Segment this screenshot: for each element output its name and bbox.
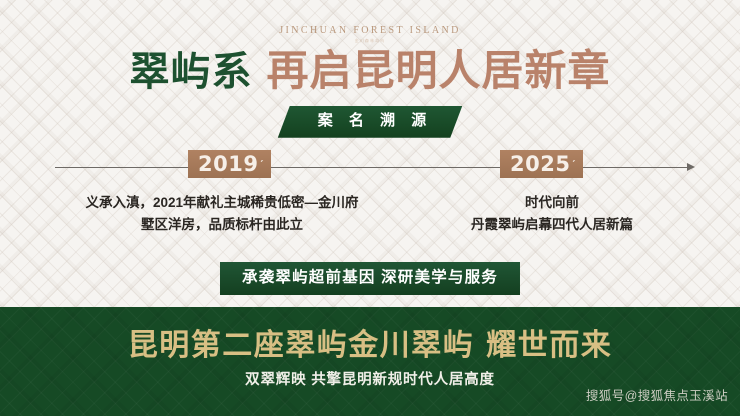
timeline-year-2019: 2019: [198, 152, 258, 176]
section-banner: 案 名 溯 源: [278, 106, 463, 138]
timeline-description-2019: 义承入滇，2021年献礼主城稀贵低密—金川府 墅区洋房，品质标杆由此立: [62, 192, 382, 236]
timeline-description-2019-line-1: 义承入滇，2021年献礼主城稀贵低密—金川府: [62, 192, 382, 214]
timeline-year-tick-2025: ′: [572, 158, 575, 171]
timeline-description-2025-line-1: 时代向前: [437, 192, 667, 214]
page-title: 翠屿系再启昆明人居新章: [0, 50, 740, 92]
timeline-description-2025-line-2: 丹霞翠屿启幕四代人居新篇: [437, 214, 667, 236]
timeline-description-2025: 时代向前 丹霞翠屿启幕四代人居新篇: [437, 192, 667, 236]
page-title-series: 翠屿系: [129, 49, 252, 95]
brand-logo-text: JINCHUAN FOREST ISLAND: [0, 26, 740, 36]
watermark: 搜狐号@搜狐焦点玉溪站: [586, 385, 728, 404]
page-title-main: 再启昆明人居新章: [266, 46, 610, 95]
brand-logo-subtext: 金川森林岛屿: [0, 39, 740, 43]
timeline-axis: [55, 167, 691, 168]
brand-logo: JINCHUAN FOREST ISLAND 金川森林岛屿: [0, 26, 740, 43]
poster-root: JINCHUAN FOREST ISLAND 金川森林岛屿 翠屿系再启昆明人居新…: [0, 0, 740, 416]
timeline-year-tick-2019: ′: [260, 158, 263, 171]
timeline-year-badge-2025: 2025′: [500, 150, 583, 178]
timeline-description-2019-line-2: 墅区洋房，品质标杆由此立: [62, 214, 382, 236]
timeline-year-badge-2019: 2019′: [188, 150, 271, 178]
bottom-panel: 昆明第二座翠屿金川翠屿 耀世而来 双翠辉映 共擎昆明新规时代人居高度 搜狐号@搜…: [0, 307, 740, 416]
timeline-arrow-icon: [687, 163, 695, 171]
bottom-panel-title: 昆明第二座翠屿金川翠屿 耀世而来: [0, 331, 740, 361]
timeline-year-2025: 2025: [510, 152, 570, 176]
slogan-bar: 承袭翠屿超前基因 深研美学与服务: [220, 262, 520, 295]
